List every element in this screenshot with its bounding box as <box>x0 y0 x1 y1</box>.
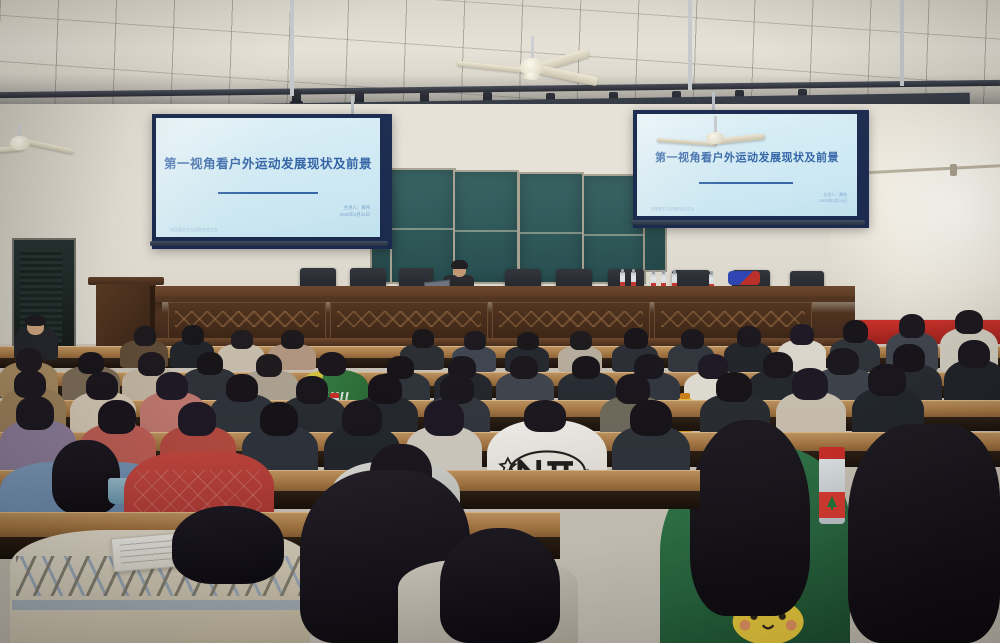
right-projection-screen: 第一视角看户外运动发展现状及前景 主讲人：黄伟 2023年3月21日 校团委学生… <box>633 110 869 228</box>
audience-hair <box>790 324 814 345</box>
audience-hair <box>260 402 298 436</box>
audience-hair <box>226 374 258 402</box>
audience-hair <box>955 310 983 334</box>
audience-hair <box>517 332 539 350</box>
audience-hair <box>368 374 402 404</box>
audience-hair <box>690 420 810 616</box>
audience-hair <box>868 364 906 396</box>
audience-hair <box>412 329 434 348</box>
audience-hair <box>958 340 990 368</box>
screen-glare <box>637 114 857 216</box>
screen-glare <box>156 118 380 237</box>
audience-hair <box>138 352 165 376</box>
audience-hair <box>52 440 120 514</box>
bottle-cap-icon <box>819 447 845 459</box>
audience-hair <box>524 400 566 432</box>
blackboard-panel <box>518 172 584 284</box>
blackboard <box>390 158 642 280</box>
right-screen-roller <box>631 220 865 225</box>
audience-hair <box>172 506 284 584</box>
audience-hair <box>342 400 382 436</box>
audience-hair <box>763 352 793 378</box>
fan-hub <box>10 136 30 150</box>
audience-hair <box>178 402 216 436</box>
bottle-cap-icon <box>680 393 690 399</box>
audience-hair <box>14 370 46 398</box>
audience-hair <box>25 315 46 326</box>
audience-hair <box>424 400 464 436</box>
audience-hair <box>440 528 560 643</box>
audience-hair <box>156 372 188 400</box>
head-table-panel <box>654 302 812 340</box>
audience-hair <box>630 400 672 436</box>
fan-rod <box>714 116 717 132</box>
audience-hair <box>16 396 54 430</box>
support-pole <box>290 0 294 96</box>
support-pole <box>900 0 904 86</box>
audience-hair <box>256 354 282 377</box>
audience-hair <box>182 325 204 345</box>
audience-hair <box>134 326 156 346</box>
audience-hair <box>296 376 328 404</box>
left-screen-roller <box>150 241 388 246</box>
audience-hair <box>464 331 486 350</box>
audience-hair <box>197 352 223 375</box>
blackboard-panel <box>390 168 456 284</box>
knit-stripe <box>12 600 310 610</box>
audience-hair <box>86 372 118 400</box>
audience-hair <box>231 330 253 349</box>
lecture-hall-photo: 第一视角看户外运动发展现状及前景 主讲人：黄伟 2023年3月21日 校团委学生… <box>0 0 1000 643</box>
draped-jacket <box>728 271 760 285</box>
pipe-bracket-icon <box>950 164 957 176</box>
speaker-hair <box>451 260 468 269</box>
audience-hair <box>78 352 104 374</box>
audience-hair <box>570 331 592 350</box>
head-table-panel <box>330 302 488 340</box>
audience-hair <box>281 330 304 349</box>
support-pole <box>688 0 692 90</box>
audience-hair <box>318 352 346 376</box>
audience-hair <box>848 424 1000 643</box>
audience-hair <box>843 320 868 343</box>
audience-hair <box>792 368 828 400</box>
audience-hair <box>624 328 648 349</box>
fan-motor <box>524 72 540 80</box>
left-slide: 第一视角看户外运动发展现状及前景 主讲人：黄伟 2023年3月21日 校团委学生… <box>156 118 380 237</box>
audience-hair <box>572 356 600 379</box>
audience-hair <box>98 400 136 434</box>
audience-hair <box>510 356 538 379</box>
bottle-tree-logo-icon <box>822 493 842 513</box>
audience-hair <box>737 326 761 347</box>
audience-hair <box>16 348 42 372</box>
audience-hair <box>899 314 925 338</box>
audience-hair <box>827 348 859 375</box>
audience-hair <box>681 329 704 349</box>
right-slide: 第一视角看户外运动发展现状及前景 主讲人：黄伟 2023年3月21日 校团委学生… <box>637 114 857 216</box>
audience-hair <box>716 372 752 402</box>
fan-hub <box>706 132 724 144</box>
left-projection-screen: 第一视角看户外运动发展现状及前景 主讲人：黄伟 2023年3月21日 校团委学生… <box>152 114 392 249</box>
